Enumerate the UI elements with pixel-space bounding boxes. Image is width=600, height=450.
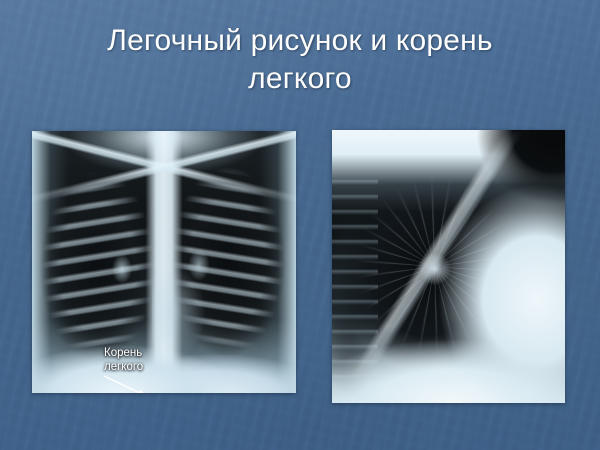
lung-root-arrow-left-icon [102,374,158,393]
right-hilum [184,243,214,287]
lung-root-label-left: Корень легкого [104,346,143,374]
clavicle-shadows [32,131,296,203]
cardiac-silhouette [152,243,224,363]
slide-title: Легочный рисунок и корень легкого [0,22,600,98]
pulmonary-vascular-markings [332,130,565,403]
vertebral-bodies [332,170,378,380]
lateral-chest-xray-image: Корень легкого [332,130,565,403]
lung-root-hilum [418,252,452,286]
presentation-slide: Легочный рисунок и корень легкого Корень… [0,0,600,450]
rib-shadows-right-lung [32,131,296,393]
scapula-shadow [332,130,565,403]
frontal-chest-xray-image: Корень легкого [32,131,296,393]
rib-shadows-left-lung [32,131,296,393]
left-hilum [108,249,136,289]
